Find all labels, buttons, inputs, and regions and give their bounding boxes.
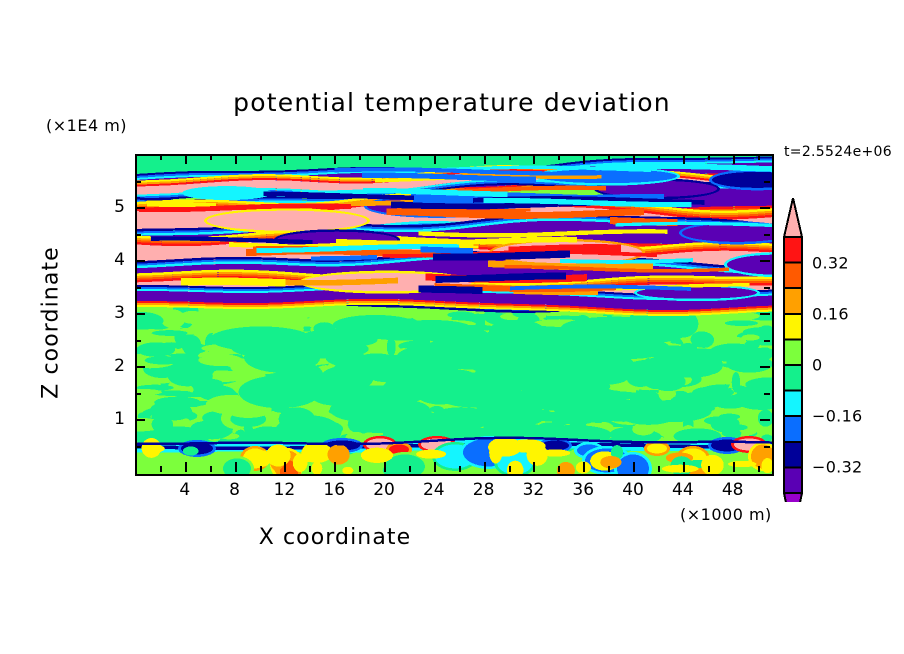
y-tick-major-right	[760, 313, 770, 315]
x-tick-major	[633, 462, 635, 472]
y-unit-label: (×1E4 m)	[46, 116, 127, 135]
y-tick-major	[135, 419, 145, 421]
x-tick-major-top	[633, 154, 635, 164]
x-tick-label: 12	[274, 480, 296, 500]
x-tick-major	[384, 462, 386, 472]
x-tick-major	[533, 462, 535, 472]
time-annotation: t=2.5524e+06	[784, 144, 892, 160]
y-tick-minor	[135, 446, 141, 448]
x-tick-label: 32	[523, 480, 545, 500]
x-tick-label: 8	[229, 480, 240, 500]
x-tick-major	[683, 462, 685, 472]
y-tick-minor	[135, 234, 141, 236]
x-tick-major-top	[235, 154, 237, 164]
y-tick-label: 3	[99, 303, 125, 323]
y-tick-major	[135, 260, 145, 262]
x-tick-minor	[758, 466, 760, 472]
x-tick-major-top	[434, 154, 436, 164]
figure-canvas: potential temperature deviation (×1E4 m)…	[0, 0, 904, 654]
x-tick-minor	[160, 466, 162, 472]
y-tick-major-right	[760, 419, 770, 421]
x-tick-major	[334, 462, 336, 472]
x-tick-label: 20	[373, 480, 395, 500]
y-tick-major	[135, 207, 145, 209]
x-tick-major	[484, 462, 486, 472]
colorbar-tick-label: 0.16	[812, 304, 849, 323]
x-tick-label: 48	[722, 480, 744, 500]
x-tick-major-top	[185, 154, 187, 164]
x-unit-label: (×1000 m)	[680, 505, 772, 524]
y-tick-major	[135, 366, 145, 368]
x-tick-major	[733, 462, 735, 472]
y-tick-major	[135, 313, 145, 315]
x-tick-minor	[509, 466, 511, 472]
y-tick-minor-right	[764, 287, 770, 289]
x-tick-minor	[558, 466, 560, 472]
colorbar-tick-label: −0.16	[812, 407, 863, 426]
x-axis-title: X coordinate	[0, 525, 670, 550]
x-tick-minor-top	[658, 154, 660, 160]
y-tick-minor	[135, 287, 141, 289]
y-tick-minor	[135, 181, 141, 183]
x-tick-minor-top	[459, 154, 461, 160]
x-tick-minor-top	[160, 154, 162, 160]
x-tick-major-top	[683, 154, 685, 164]
x-tick-label: 16	[323, 480, 345, 500]
x-tick-minor	[608, 466, 610, 472]
y-tick-minor-right	[764, 393, 770, 395]
x-tick-label: 36	[572, 480, 594, 500]
colorbar	[776, 196, 812, 502]
x-tick-minor	[658, 466, 660, 472]
x-tick-minor	[409, 466, 411, 472]
colorbar-tick-label: 0	[812, 356, 822, 375]
x-tick-major-top	[583, 154, 585, 164]
x-tick-minor-top	[558, 154, 560, 160]
x-tick-minor-top	[708, 154, 710, 160]
x-tick-minor-top	[309, 154, 311, 160]
x-tick-minor-top	[608, 154, 610, 160]
x-tick-major-top	[484, 154, 486, 164]
x-tick-major-top	[733, 154, 735, 164]
x-tick-minor-top	[758, 154, 760, 160]
x-tick-major	[235, 462, 237, 472]
y-tick-minor-right	[764, 181, 770, 183]
y-tick-label: 4	[99, 250, 125, 270]
x-tick-label: 24	[423, 480, 445, 500]
x-tick-minor-top	[409, 154, 411, 160]
y-tick-major-right	[760, 207, 770, 209]
y-tick-minor-right	[764, 446, 770, 448]
colorbar-tick-label: 0.32	[812, 253, 849, 272]
y-tick-major-right	[760, 260, 770, 262]
x-tick-label: 44	[672, 480, 694, 500]
y-tick-major-right	[760, 366, 770, 368]
x-tick-label: 4	[179, 480, 190, 500]
y-tick-minor	[135, 340, 141, 342]
x-tick-major-top	[284, 154, 286, 164]
x-tick-label: 28	[473, 480, 495, 500]
y-tick-label: 1	[99, 409, 125, 429]
colorbar-swatches	[776, 196, 812, 502]
y-axis-title: Z coordinate	[39, 238, 64, 408]
x-tick-minor	[309, 466, 311, 472]
x-tick-minor	[260, 466, 262, 472]
x-tick-major-top	[533, 154, 535, 164]
contour-plot-area	[135, 154, 774, 476]
page-title: potential temperature deviation	[0, 88, 904, 117]
colorbar-tick-label: −0.32	[812, 458, 863, 477]
x-tick-major	[185, 462, 187, 472]
x-tick-label: 40	[622, 480, 644, 500]
x-tick-minor	[459, 466, 461, 472]
x-tick-minor	[708, 466, 710, 472]
y-tick-minor-right	[764, 234, 770, 236]
y-tick-label: 2	[99, 356, 125, 376]
x-tick-minor-top	[260, 154, 262, 160]
x-tick-minor-top	[509, 154, 511, 160]
x-tick-major	[434, 462, 436, 472]
contour-field	[137, 156, 772, 474]
y-tick-label: 5	[99, 197, 125, 217]
x-tick-major	[284, 462, 286, 472]
y-tick-minor-right	[764, 340, 770, 342]
x-tick-minor-top	[359, 154, 361, 160]
y-tick-minor	[135, 393, 141, 395]
x-tick-minor	[210, 466, 212, 472]
x-tick-major	[583, 462, 585, 472]
x-tick-major-top	[334, 154, 336, 164]
x-tick-major-top	[384, 154, 386, 164]
x-tick-minor	[359, 466, 361, 472]
x-tick-minor-top	[210, 154, 212, 160]
